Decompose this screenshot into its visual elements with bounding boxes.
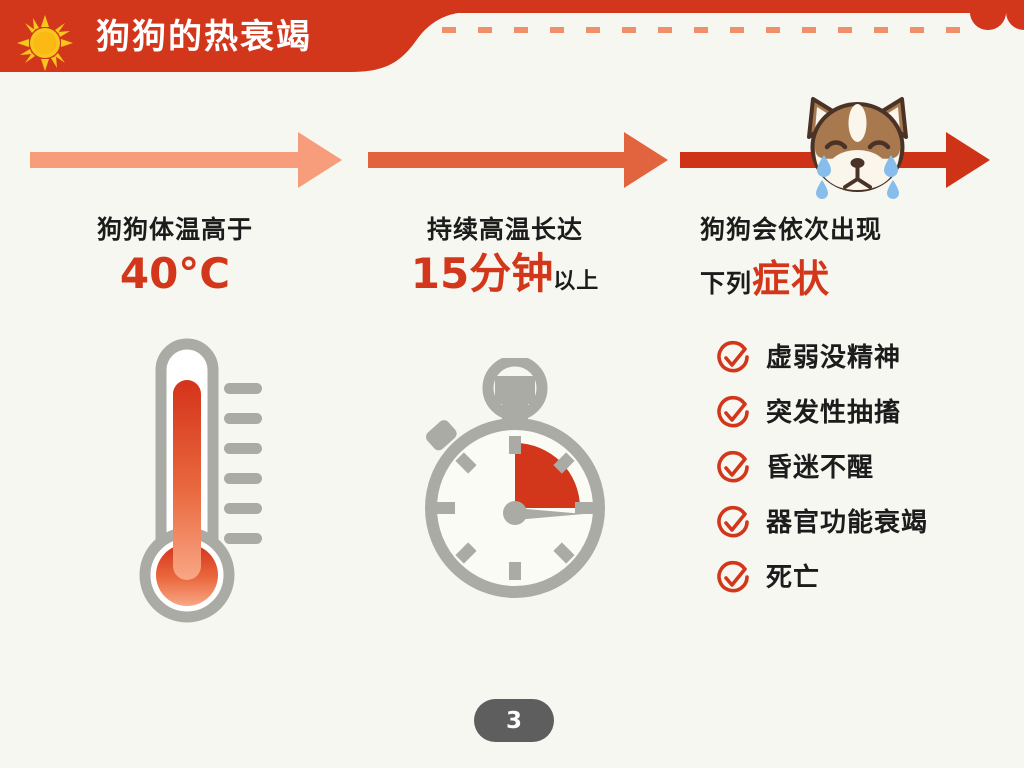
column-temperature: 狗狗体温高于 40°C (0, 212, 350, 300)
col3-heading: 狗狗会依次出现 (700, 212, 1020, 248)
symptom-label: 死亡 (766, 562, 820, 594)
col2-value: 15分钟 (411, 248, 553, 300)
col1-value: 40°C (0, 248, 350, 300)
symptom-label: 突发性抽搐 (766, 397, 901, 429)
page-number-badge: 3 (474, 699, 554, 742)
list-item[interactable]: 突发性抽搐 (714, 385, 1024, 440)
col3-line2-prefix: 下列 (700, 266, 752, 302)
symptom-label: 昏迷不醒 (766, 452, 874, 484)
check-circle-icon (714, 393, 754, 433)
stopwatch-icon (398, 358, 633, 603)
check-circle-icon (714, 448, 754, 488)
check-circle-icon (714, 503, 754, 543)
col3-line2-highlight: 症状 (752, 248, 830, 303)
arrow-step-2 (368, 130, 668, 190)
page-header: 狗狗的热衰竭 (0, 0, 1024, 90)
arrow-step-1 (30, 130, 342, 190)
symptom-label: 虚弱没精神 (766, 342, 901, 374)
col2-heading: 持续高温长达 (340, 212, 670, 248)
sad-dog-face-icon (795, 85, 920, 200)
column-symptoms: 狗狗会依次出现 下列 症状 (700, 212, 1020, 303)
check-circle-icon (714, 338, 754, 378)
symptom-label: 器官功能衰竭 (766, 507, 928, 539)
symptom-list: 虚弱没精神 突发性抽搐 昏迷不醒 器官功能衰竭 死亡 (714, 330, 1024, 605)
list-item[interactable]: 器官功能衰竭 (714, 495, 1024, 550)
check-circle-icon (714, 558, 754, 598)
list-item[interactable]: 死亡 (714, 550, 1024, 605)
page-title: 狗狗的热衰竭 (96, 14, 312, 60)
thermometer-icon (128, 332, 268, 632)
sun-icon (16, 14, 74, 72)
list-item[interactable]: 昏迷不醒 (714, 440, 1024, 495)
col1-heading: 狗狗体温高于 (0, 212, 350, 248)
list-item[interactable]: 虚弱没精神 (714, 330, 1024, 385)
col2-value-suffix: 以上 (553, 263, 599, 295)
column-duration: 持续高温长达 15分钟 以上 (340, 212, 670, 300)
process-arrow-row (0, 130, 1024, 200)
